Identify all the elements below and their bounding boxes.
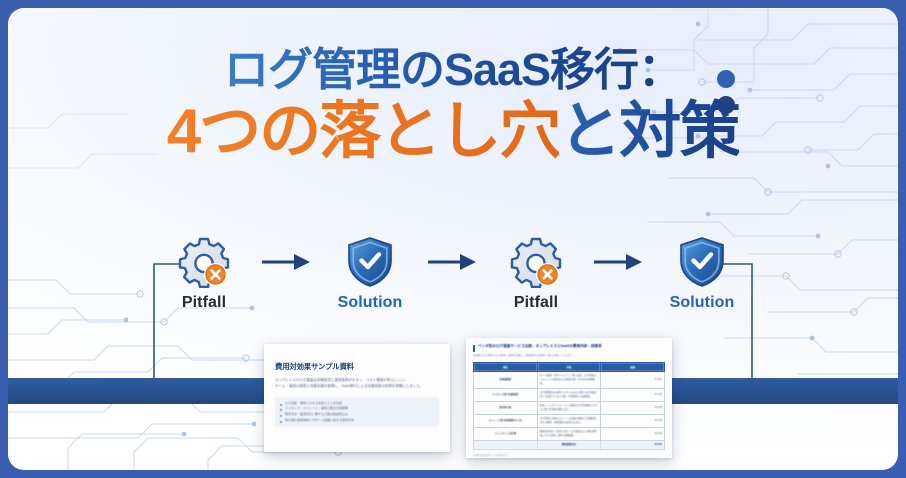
cell-amount: ¥1,000 xyxy=(601,388,665,401)
cell-amount: ¥1,000 xyxy=(601,428,665,441)
cost-benefit-sample-document[interactable]: 費用対効果サンプル資料 オンプレミスのログ基盤は初期投資と運用負荷が大きく、コス… xyxy=(264,344,450,452)
shield-check-icon xyxy=(346,236,394,288)
total-amount: ¥1,000 xyxy=(601,441,665,450)
table-row: 初期構築費 サーバ調達・OS/ミドルウェア導入設定、ログ収集エージェントの配布お… xyxy=(474,371,665,388)
flow-step-label: Pitfall xyxy=(514,294,558,312)
accent-bar xyxy=(473,345,475,352)
flow-step-solution-1[interactable]: Solution xyxy=(318,236,422,312)
table-total-row: 費用試算合計 ¥1,000 xyxy=(474,441,665,450)
gear-x-icon xyxy=(510,236,562,288)
document-subtitle: 各項目ごとに想定される条件・前提を記載し、料金体系の差異を一覧で比較しています。 xyxy=(473,354,665,358)
flow-step-solution-2[interactable]: Solution xyxy=(650,236,754,312)
cost-table: 項目 内容 金額 初期構築費 サーバ調達・OS/ミドルウェア導入設定、ログ収集エ… xyxy=(473,362,665,451)
column-header: 項目 xyxy=(474,362,538,371)
shield-check-icon xyxy=(678,236,726,288)
document-footer: ※試算は想定条件による参考値です xyxy=(473,453,665,457)
title-block: ログ管理のSaaS移行： 4つの落とし穴と対策 xyxy=(8,44,898,166)
arrow-right-icon xyxy=(588,236,650,288)
document-title: ベンダ別のログ基盤サービス比較：オンプレミスとSaaSの費用内訳・試算表 xyxy=(478,344,602,348)
cell-desc: ログ管理製品の基本ライセンスおよび取り込み容量に応じた追加ライセンス料。年間契約… xyxy=(537,388,601,401)
document-bullet-box: ログ収集・保管にかかる年間コストの内訳 ライセンス・ストレージ・運用工数の比較結… xyxy=(275,397,439,427)
flow-step-label: Solution xyxy=(338,294,403,312)
cell-desc: 監視・バックアップ・パッチ適用など定常運用にかかる工数と外部委託費の合計。 xyxy=(537,401,601,414)
flow-step-label: Pitfall xyxy=(182,294,226,312)
page-title-line1: ログ管理のSaaS移行： xyxy=(224,44,682,96)
blue-band-right xyxy=(648,378,898,404)
total-label: 費用試算合計 xyxy=(537,441,601,450)
document-body-line: チーム・運用の実態と改善効果を整理し、SaaS移行による効果試算の前提を明確にし… xyxy=(275,384,439,390)
cell-desc: 障害発生時の一次切り分け、ログ調査および報告書作成にかかる想定工数を金額換算。 xyxy=(537,428,601,441)
pitfall-solution-flow: Pitfall xyxy=(8,236,898,322)
cell-desc: サーバ調達・OS/ミドルウェア導入設定、ログ収集エージェントの配布および検証作業… xyxy=(537,371,601,388)
arrow-right-icon xyxy=(422,236,484,288)
cell-desc: ログ保管に必要なストレージ容量の確保と冗長構成にかかる費用。保管期間の延長分も含… xyxy=(537,415,601,428)
cell-item: 運用保守費 xyxy=(474,401,538,414)
gear-x-icon xyxy=(178,236,230,288)
document-title: 費用対効果サンプル資料 xyxy=(275,361,439,372)
cell-amount: ¥1,000 xyxy=(601,401,665,414)
banner-card: ログ管理のSaaS移行： 4つの落とし穴と対策 xyxy=(8,8,898,470)
table-row: ストレージ費 (保管期間12ヶ月) ログ保管に必要なストレージ容量の確保と冗長構… xyxy=(474,415,665,428)
page-title-line2-suffix: と対策 xyxy=(559,98,739,166)
flow-step-pitfall-1[interactable]: Pitfall xyxy=(152,236,256,312)
cell-item: インシデント対応費 xyxy=(474,428,538,441)
cost-comparison-table-document[interactable]: ベンダ別のログ基盤サービス比較：オンプレミスとSaaSの費用内訳・試算表 各項目… xyxy=(466,338,672,458)
page-title-line2-highlight: 4つの落とし穴 xyxy=(167,98,559,166)
flow-step-pitfall-2[interactable]: Pitfall xyxy=(484,236,588,312)
cell-item: ストレージ費 (保管期間12ヶ月) xyxy=(474,415,538,428)
cell-item: 初期構築費 xyxy=(474,371,538,388)
table-row: ライセンス費 (年額換算) ログ管理製品の基本ライセンスおよび取り込み容量に応じ… xyxy=(474,388,665,401)
cell-item: ライセンス費 (年額換算) xyxy=(474,388,538,401)
cell-amount: ¥1,000 xyxy=(601,415,665,428)
flow-step-label: Solution xyxy=(670,294,735,312)
table-header-row: 項目 内容 金額 xyxy=(474,362,665,371)
column-header: 内容 xyxy=(537,362,601,371)
list-item: 移行後の運用体制とサポート範囲に関する想定条件 xyxy=(280,418,434,424)
cell-amount: ¥1,000 xyxy=(601,371,665,388)
table-row: 運用保守費 監視・バックアップ・パッチ適用など定常運用にかかる工数と外部委託費の… xyxy=(474,401,665,414)
table-row: インシデント対応費 障害発生時の一次切り分け、ログ調査および報告書作成にかかる想… xyxy=(474,428,665,441)
infographic-banner: ログ管理のSaaS移行： 4つの落とし穴と対策 xyxy=(0,0,906,478)
column-header: 金額 xyxy=(601,362,665,371)
arrow-right-icon xyxy=(256,236,318,288)
